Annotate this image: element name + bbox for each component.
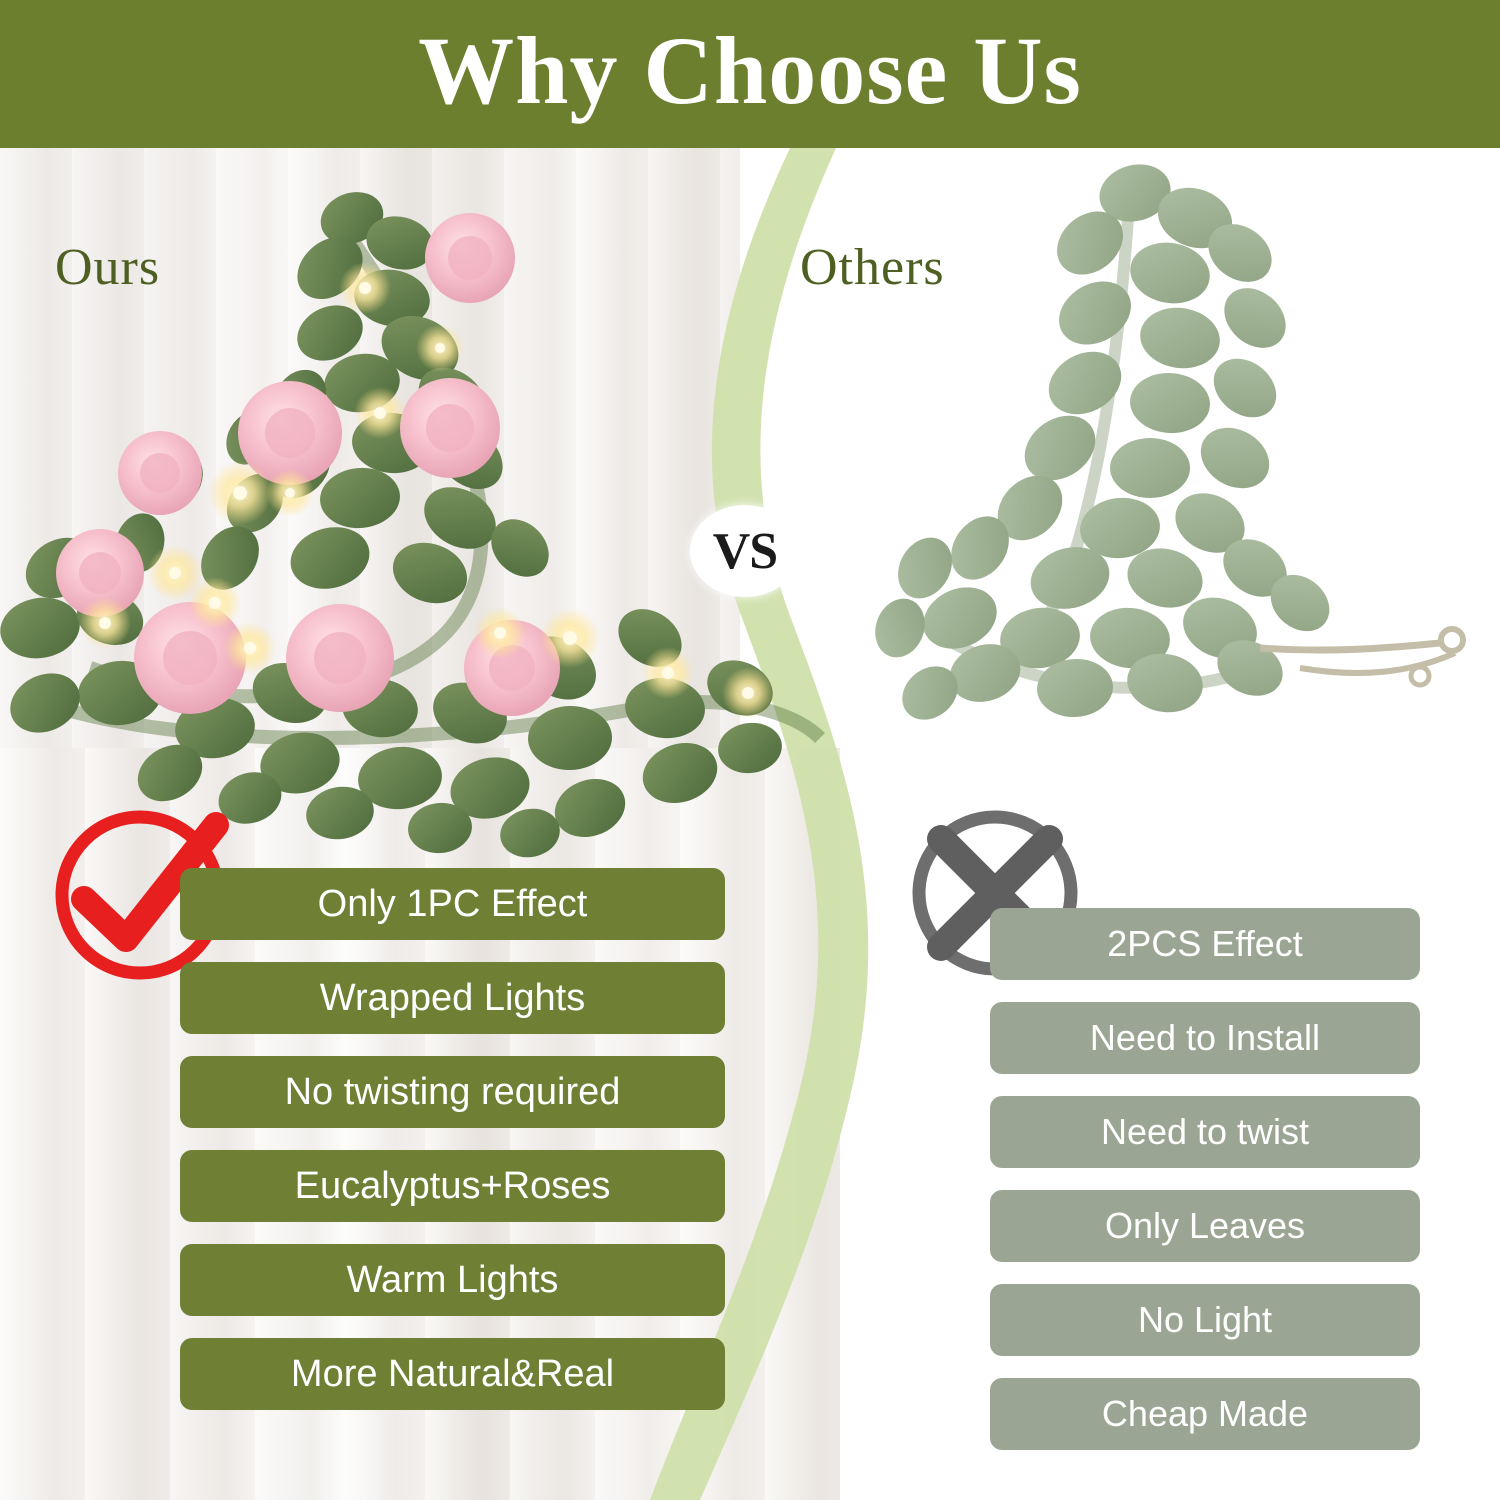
- list-item: 2PCS Effect: [990, 908, 1420, 980]
- others-feature-list: 2PCS Effect Need to Install Need to twis…: [990, 908, 1420, 1472]
- list-item: Only Leaves: [990, 1190, 1420, 1262]
- list-item: Only 1PC Effect: [180, 868, 725, 940]
- list-item: More Natural&Real: [180, 1338, 725, 1410]
- ours-feature-list: Only 1PC Effect Wrapped Lights No twisti…: [180, 868, 725, 1432]
- comparison-stage: Ours Others VS Only 1PC Effect Wrapped L…: [0, 148, 1500, 1500]
- vs-badge: VS: [690, 505, 800, 597]
- page-header: Why Choose Us: [0, 0, 1500, 148]
- list-item: Wrapped Lights: [180, 962, 725, 1034]
- list-item: No twisting required: [180, 1056, 725, 1128]
- label-others: Others: [800, 238, 945, 297]
- page-title: Why Choose Us: [418, 23, 1082, 119]
- list-item: Warm Lights: [180, 1244, 725, 1316]
- list-item: Need to Install: [990, 1002, 1420, 1074]
- list-item: No Light: [990, 1284, 1420, 1356]
- label-ours: Ours: [55, 238, 160, 297]
- list-item: Eucalyptus+Roses: [180, 1150, 725, 1222]
- list-item: Cheap Made: [990, 1378, 1420, 1450]
- list-item: Need to twist: [990, 1096, 1420, 1168]
- vs-label: VS: [713, 522, 777, 581]
